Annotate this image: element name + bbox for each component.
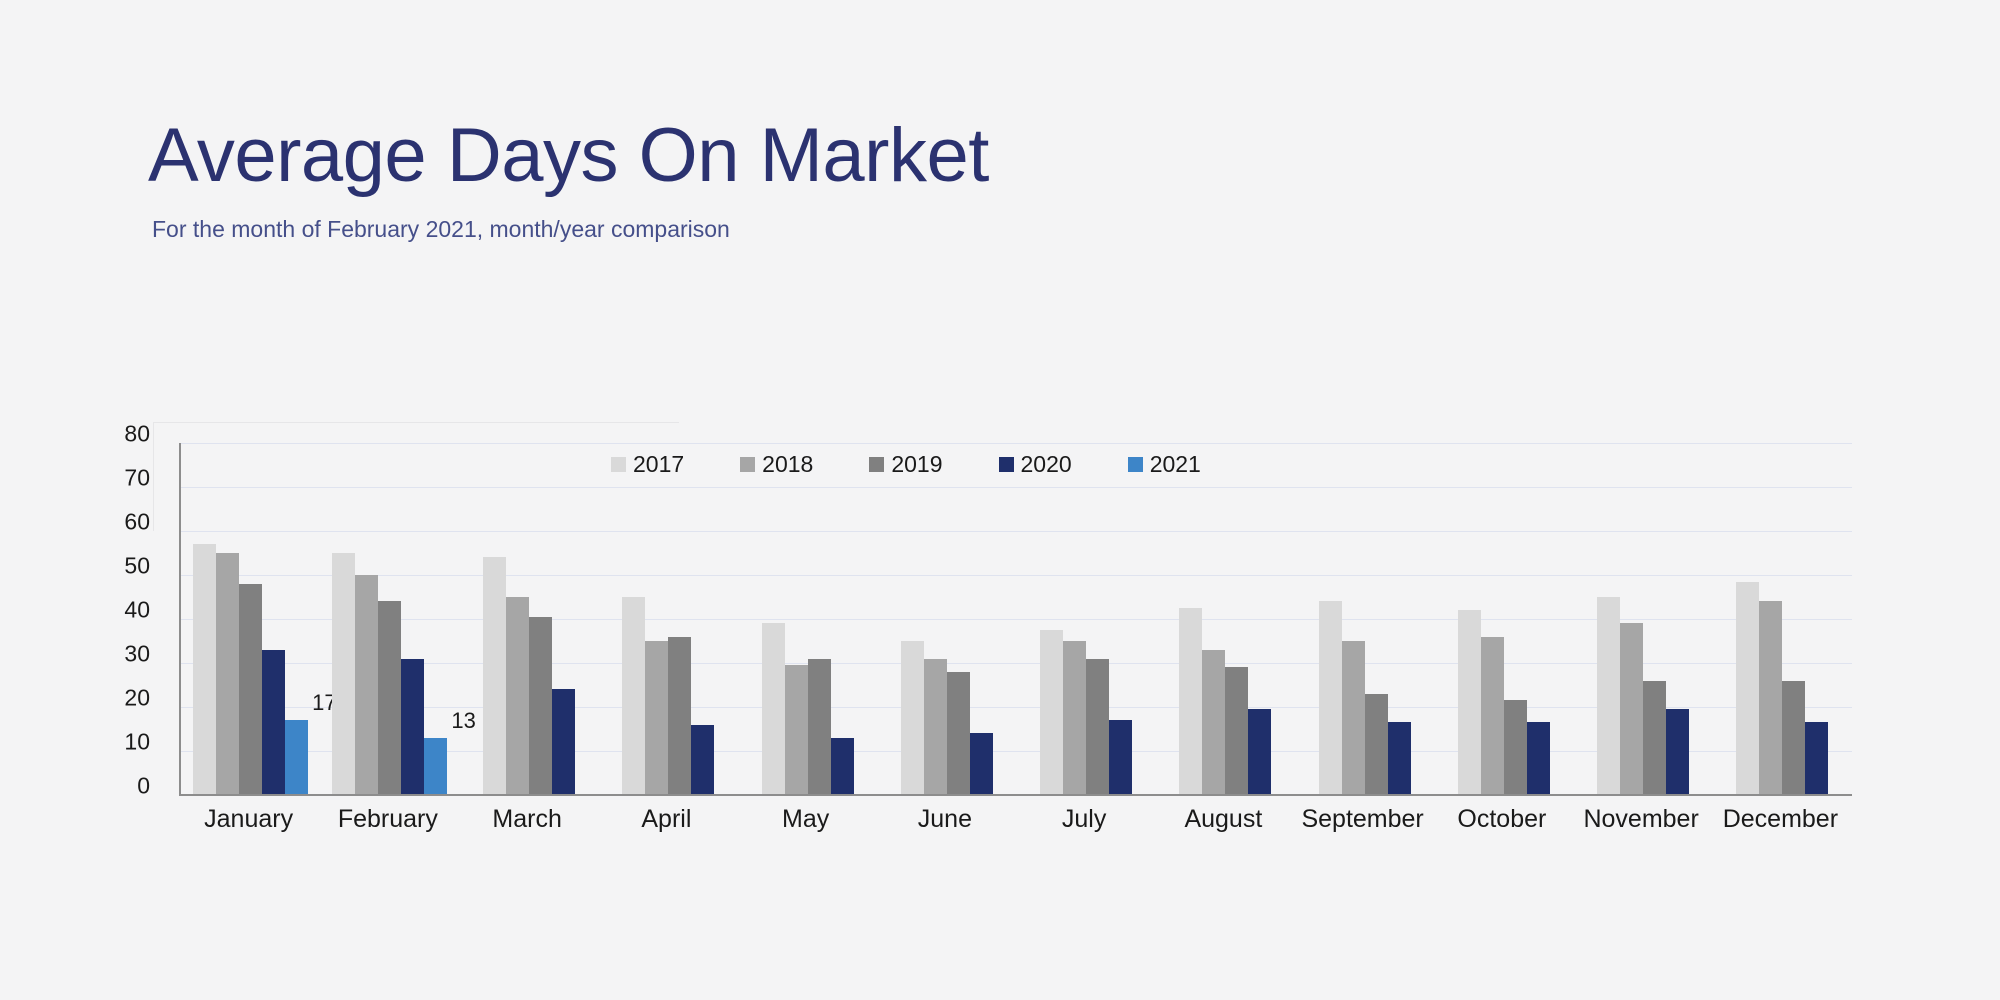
bar-2020-september[interactable]	[1388, 722, 1411, 795]
bar-2017-july[interactable]	[1040, 630, 1063, 795]
bar-2017-september[interactable]	[1319, 601, 1342, 795]
bar-group-april	[599, 443, 738, 795]
bar-2020-january[interactable]	[262, 650, 285, 795]
bar-stack	[622, 443, 714, 795]
bar-2019-september[interactable]	[1365, 694, 1388, 795]
bar-stack	[483, 443, 575, 795]
bar-groups: 1713	[181, 443, 1852, 795]
bar-2020-december[interactable]	[1805, 722, 1828, 795]
bar-stack	[901, 443, 993, 795]
page-title: Average Days On Market	[148, 118, 1648, 194]
legend-item-2017[interactable]: 2017	[611, 453, 684, 476]
bar-2019-may[interactable]	[808, 659, 831, 795]
legend-swatch-icon	[999, 457, 1014, 472]
bar-2021-january[interactable]: 17	[285, 720, 308, 795]
bar-2019-october[interactable]	[1504, 700, 1527, 795]
bar-2020-april[interactable]	[691, 725, 714, 795]
legend-label: 2017	[633, 453, 684, 476]
bar-stack	[1458, 443, 1550, 795]
legend-label: 2019	[891, 453, 942, 476]
bar-2018-june[interactable]	[924, 659, 947, 795]
bar-stack	[1040, 443, 1132, 795]
bar-2018-december[interactable]	[1759, 601, 1782, 795]
bar-2018-september[interactable]	[1342, 641, 1365, 795]
bar-group-january: 17	[181, 443, 320, 795]
bar-group-february: 13	[320, 443, 459, 795]
bar-2017-october[interactable]	[1458, 610, 1481, 795]
bar-2020-march[interactable]	[552, 689, 575, 795]
x-axis-tick-label: July	[1015, 805, 1154, 834]
legend-item-2020[interactable]: 2020	[999, 453, 1072, 476]
y-axis-tick-label: 80	[124, 421, 150, 448]
y-axis-tick-label: 30	[124, 641, 150, 668]
x-axis-tick-label: May	[736, 805, 875, 834]
bar-2019-march[interactable]	[529, 617, 552, 795]
bar-2017-december[interactable]	[1736, 582, 1759, 795]
bar-group-july	[1017, 443, 1156, 795]
bar-2020-august[interactable]	[1248, 709, 1271, 795]
x-axis-tick-label: February	[318, 805, 457, 834]
bar-2019-april[interactable]	[668, 637, 691, 795]
bar-2017-february[interactable]	[332, 553, 355, 795]
bar-group-may	[738, 443, 877, 795]
bar-2017-november[interactable]	[1597, 597, 1620, 795]
bar-stack: 17	[193, 443, 308, 795]
x-axis-line	[179, 794, 1852, 796]
x-axis-tick-label: April	[597, 805, 736, 834]
y-axis-tick-label: 60	[124, 509, 150, 536]
page-subtitle: For the month of February 2021, month/ye…	[152, 216, 1648, 243]
y-axis-tick-label: 70	[124, 465, 150, 492]
legend: 20172018201920202021	[611, 453, 1201, 476]
x-axis-tick-label: August	[1154, 805, 1293, 834]
bar-2017-april[interactable]	[622, 597, 645, 795]
x-axis-tick-label: June	[875, 805, 1014, 834]
bar-chart: 01020304050607080 20172018201920202021 1…	[153, 420, 1850, 810]
bar-2020-october[interactable]	[1527, 722, 1550, 795]
bar-2019-december[interactable]	[1782, 681, 1805, 795]
bar-2018-july[interactable]	[1063, 641, 1086, 795]
bar-2020-november[interactable]	[1666, 709, 1689, 795]
bar-2019-july[interactable]	[1086, 659, 1109, 795]
bar-2018-may[interactable]	[785, 665, 808, 795]
y-axis-tick-label: 20	[124, 685, 150, 712]
legend-swatch-icon	[869, 457, 884, 472]
legend-item-2018[interactable]: 2018	[740, 453, 813, 476]
legend-item-2021[interactable]: 2021	[1128, 453, 1201, 476]
legend-label: 2020	[1021, 453, 1072, 476]
legend-swatch-icon	[740, 457, 755, 472]
bar-2017-march[interactable]	[483, 557, 506, 795]
bar-group-march	[460, 443, 599, 795]
bar-2020-july[interactable]	[1109, 720, 1132, 795]
x-axis-tick-label: January	[179, 805, 318, 834]
y-axis-tick-label: 40	[124, 597, 150, 624]
bar-group-october	[1434, 443, 1573, 795]
bar-2020-may[interactable]	[831, 738, 854, 795]
bar-group-august	[1156, 443, 1295, 795]
bar-group-november	[1574, 443, 1713, 795]
bar-2017-may[interactable]	[762, 623, 785, 795]
legend-swatch-icon	[1128, 457, 1143, 472]
bar-2018-august[interactable]	[1202, 650, 1225, 795]
bar-2018-february[interactable]	[355, 575, 378, 795]
legend-swatch-icon	[611, 457, 626, 472]
bar-stack	[762, 443, 854, 795]
chart-header: Average Days On Market For the month of …	[148, 118, 1648, 243]
bar-2018-november[interactable]	[1620, 623, 1643, 795]
y-axis-tick-label: 50	[124, 553, 150, 580]
plot-area: 20172018201920202021 1713	[179, 443, 1852, 795]
x-axis-tick-label: March	[458, 805, 597, 834]
bar-group-june	[877, 443, 1016, 795]
bar-2019-february[interactable]	[378, 601, 401, 795]
x-axis-tick-label: December	[1711, 805, 1850, 834]
bar-2018-march[interactable]	[506, 597, 529, 795]
legend-label: 2018	[762, 453, 813, 476]
bar-group-december	[1713, 443, 1852, 795]
bar-stack	[1179, 443, 1271, 795]
bar-2019-january[interactable]	[239, 584, 262, 795]
x-axis-tick-label: October	[1432, 805, 1571, 834]
x-axis: JanuaryFebruaryMarchAprilMayJuneJulyAugu…	[179, 805, 1850, 834]
legend-item-2019[interactable]: 2019	[869, 453, 942, 476]
bar-2017-january[interactable]	[193, 544, 216, 795]
bar-2018-april[interactable]	[645, 641, 668, 795]
bar-stack	[1736, 443, 1828, 795]
bar-stack: 13	[332, 443, 447, 795]
x-axis-tick-label: September	[1293, 805, 1432, 834]
bar-2019-june[interactable]	[947, 672, 970, 795]
y-axis-tick-label: 0	[137, 773, 150, 800]
bar-2018-january[interactable]	[216, 553, 239, 795]
bar-2019-november[interactable]	[1643, 681, 1666, 795]
bar-2017-june[interactable]	[901, 641, 924, 795]
bar-stack	[1319, 443, 1411, 795]
x-axis-tick-label: November	[1572, 805, 1711, 834]
bar-2020-february[interactable]	[401, 659, 424, 795]
bar-2020-june[interactable]	[970, 733, 993, 795]
bar-2021-february[interactable]: 13	[424, 738, 447, 795]
bar-2018-october[interactable]	[1481, 637, 1504, 795]
y-axis: 01020304050607080	[108, 434, 150, 786]
legend-label: 2021	[1150, 453, 1201, 476]
bar-stack	[1597, 443, 1689, 795]
bar-group-september	[1295, 443, 1434, 795]
bar-2019-august[interactable]	[1225, 667, 1248, 795]
bar-2017-august[interactable]	[1179, 608, 1202, 795]
y-axis-tick-label: 10	[124, 729, 150, 756]
